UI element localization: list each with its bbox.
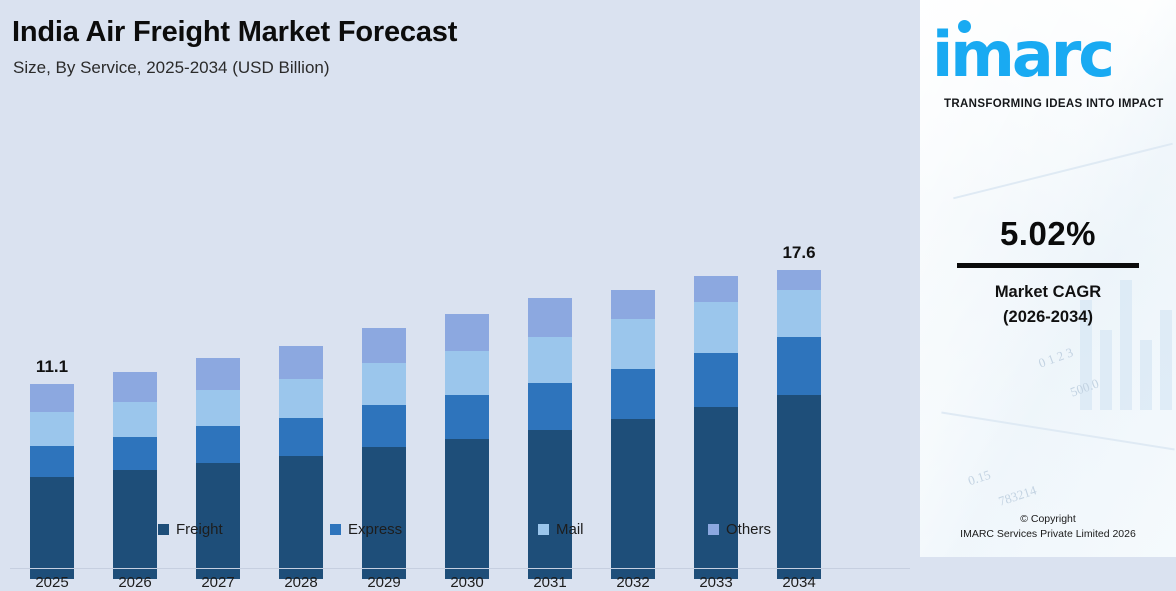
bar-segment-others <box>611 290 655 320</box>
x-axis-label-2031: 2031 <box>505 574 595 591</box>
x-axis-label-2032: 2032 <box>588 574 678 591</box>
x-axis-line <box>10 568 910 569</box>
plot-area: 11.117.6 2025202620272028202920302031203… <box>0 100 920 470</box>
bar-segment-express <box>694 353 738 407</box>
bar-segment-mail <box>777 290 821 337</box>
bar-segment-express <box>30 446 74 478</box>
bar-segment-mail <box>362 363 406 405</box>
bar-series-container: 11.117.6 <box>0 100 920 568</box>
bar-segment-mail <box>196 390 240 427</box>
bar-segment-others <box>279 346 323 379</box>
x-axis-label-2034: 2034 <box>754 574 844 591</box>
bar-segment-mail <box>30 412 74 445</box>
bar-segment-mail <box>279 379 323 418</box>
cagr-label-line1: Market CAGR <box>920 280 1176 305</box>
x-axis-label-2025: 2025 <box>7 574 97 591</box>
bar-segment-express <box>279 418 323 457</box>
legend-item-express[interactable]: Express <box>330 521 402 538</box>
bar-segment-express <box>196 426 240 463</box>
chart-legend: FreightExpressMailOthers <box>0 515 920 549</box>
logo-wordmark: imarc <box>932 24 1112 86</box>
bar-segment-mail <box>445 351 489 395</box>
page-subtitle: Size, By Service, 2025-2034 (USD Billion… <box>13 58 330 78</box>
page-title: India Air Freight Market Forecast <box>12 16 457 49</box>
bar-value-label: 17.6 <box>782 243 815 263</box>
bar-segment-others <box>528 298 572 337</box>
cagr-block: 5.02% Market CAGR (2026-2034) <box>920 215 1176 330</box>
x-axis-label-2026: 2026 <box>90 574 180 591</box>
bar-segment-others <box>777 270 821 289</box>
bar-group: 11.1 <box>30 384 74 579</box>
x-axis-label-2028: 2028 <box>256 574 346 591</box>
legend-swatch-icon <box>708 524 719 535</box>
bar-segment-mail <box>694 302 738 353</box>
bar-segment-mail <box>611 319 655 368</box>
cagr-label-line2: (2026-2034) <box>920 305 1176 330</box>
legend-label: Mail <box>556 521 584 538</box>
brand-panel: 0.15 783214 500.0 0 1 2 3 imarc TRANSFOR… <box>920 0 1176 557</box>
bar-segment-express <box>445 395 489 439</box>
legend-swatch-icon <box>538 524 549 535</box>
copyright-line-1: © Copyright <box>920 512 1176 527</box>
copyright-notice: © Copyright IMARC Services Private Limit… <box>920 512 1176 542</box>
x-axis-label-2027: 2027 <box>173 574 263 591</box>
logo-tagline: TRANSFORMING IDEAS INTO IMPACT <box>944 98 1164 110</box>
legend-swatch-icon <box>158 524 169 535</box>
bar-segment-express <box>611 369 655 420</box>
infographic-root: India Air Freight Market Forecast Size, … <box>0 0 1176 557</box>
legend-swatch-icon <box>330 524 341 535</box>
cagr-divider <box>957 263 1139 268</box>
bar-segment-freight <box>777 395 821 579</box>
legend-item-freight[interactable]: Freight <box>158 521 223 538</box>
bar-segment-others <box>113 372 157 402</box>
bar-segment-express <box>777 337 821 395</box>
legend-label: Others <box>726 521 771 538</box>
legend-label: Express <box>348 521 402 538</box>
bar-segment-others <box>362 328 406 363</box>
legend-label: Freight <box>176 521 223 538</box>
bar-segment-freight <box>611 419 655 579</box>
bar-segment-express <box>362 405 406 447</box>
copyright-line-2: IMARC Services Private Limited 2026 <box>920 527 1176 542</box>
x-axis-label-2029: 2029 <box>339 574 429 591</box>
bar-segment-freight <box>445 439 489 579</box>
chart-panel: India Air Freight Market Forecast Size, … <box>0 0 920 557</box>
imarc-logo: imarc TRANSFORMING IDEAS INTO IMPACT <box>920 10 1176 110</box>
bar-segment-others <box>445 314 489 351</box>
bar-segment-mail <box>528 337 572 383</box>
bar-segment-others <box>30 384 74 412</box>
bar-segment-express <box>528 383 572 430</box>
bar-segment-mail <box>113 402 157 437</box>
legend-item-others[interactable]: Others <box>708 521 771 538</box>
bar-segment-freight <box>694 407 738 579</box>
bar-segment-express <box>113 437 157 470</box>
bar-segment-others <box>196 358 240 390</box>
bar-value-label: 11.1 <box>36 357 68 377</box>
bar-segment-freight <box>362 447 406 579</box>
legend-item-mail[interactable]: Mail <box>538 521 584 538</box>
x-axis-label-2030: 2030 <box>422 574 512 591</box>
x-axis-label-2033: 2033 <box>671 574 761 591</box>
bar-segment-others <box>694 276 738 302</box>
cagr-value: 5.02% <box>920 215 1176 253</box>
